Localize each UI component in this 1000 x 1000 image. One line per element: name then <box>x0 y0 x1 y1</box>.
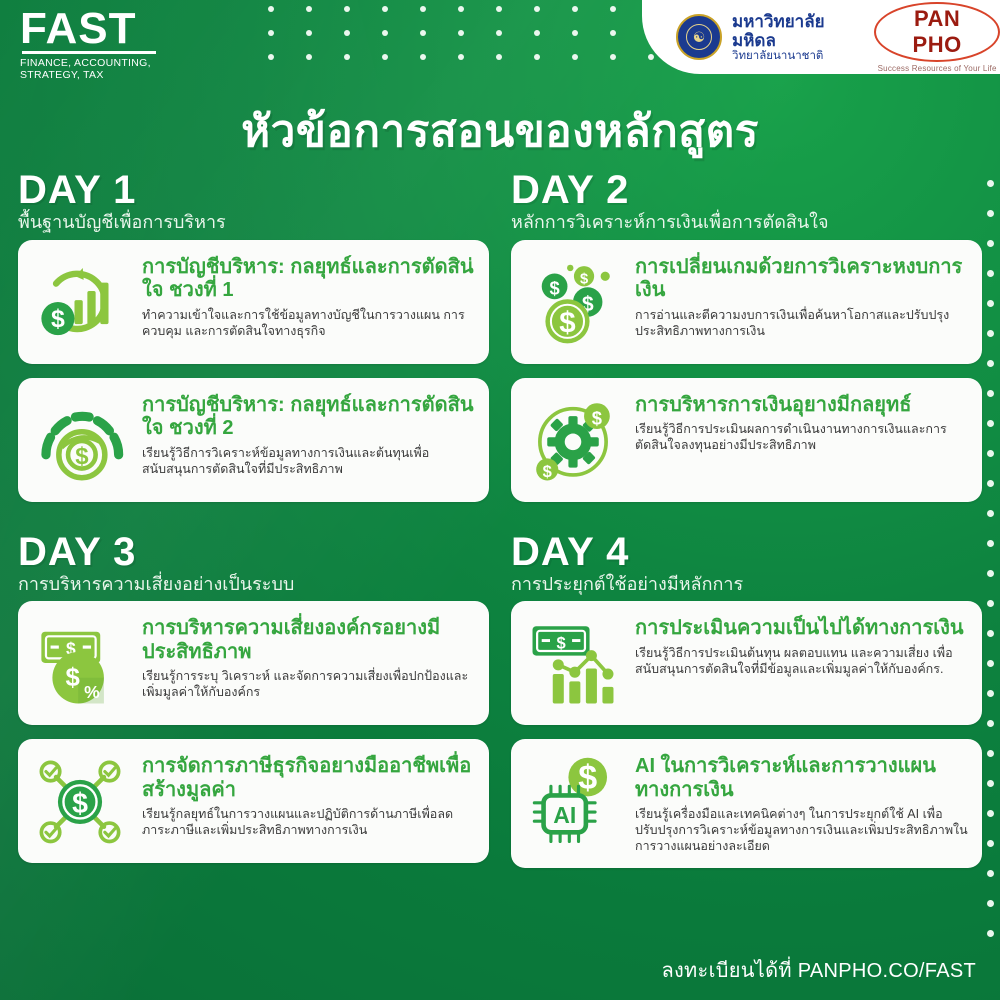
topic-card-title: การเปลี่ยนเกมด้วยการวิเคราะหงบการเงิน <box>635 256 968 303</box>
days-row: DAY 1 พื้นฐานบัญชีเพื่อการบริหาร $ การบั… <box>0 170 1000 516</box>
topic-card-description: เรียนรู้วิธีการประเมินผลการดำเนินงานทางก… <box>635 421 968 453</box>
topic-card[interactable]: $ การจัดการภาษีธุรกิจอยางมืออาชีพเพื่อสร… <box>18 739 489 863</box>
panpho-tagline: Success Resources of Your Life <box>874 64 1000 73</box>
topic-card-description: เรียนรู้กลยุทธ์ในการวางแผนและปฏิบัติการด… <box>142 806 475 838</box>
mahidol-seal-icon: ☯ <box>676 14 722 60</box>
topic-card[interactable]: $ การประเมินความเป็นไปได้ทางการเงิน เรีย… <box>511 601 982 725</box>
header-dot-pattern <box>268 6 688 68</box>
day-label: DAY 2 <box>511 170 982 210</box>
svg-text:$: $ <box>559 306 575 339</box>
ai-chip-dollar-icon: $AI <box>521 753 625 849</box>
svg-text:$: $ <box>592 407 602 428</box>
mahidol-text: มหาวิทยาลัยมหิดล วิทยาลัยนานาชาติ <box>732 12 856 63</box>
dollar-coins-stack-icon: $$$$ <box>521 254 625 350</box>
day-header-4: DAY 4 การประยุกต์ใช้อย่างมีหลักการ <box>511 532 982 596</box>
topic-card-body: การจัดการภาษีธุรกิจอยางมืออาชีพเพื่อสร้า… <box>142 753 475 838</box>
days-row: DAY 3 การบริหารความเสี่ยงอย่างเป็นระบบ $… <box>0 532 1000 883</box>
day-subtitle: พื้นฐานบัญชีเพื่อการบริหาร <box>18 212 489 234</box>
panpho-name: PAN PHO <box>874 2 1000 62</box>
topic-card-title: การบัญชีบริหาร: กลยุทธ์และการตัดสิน่ใจ ช… <box>142 256 475 303</box>
topic-card-title: AI ในการวิเคราะห์และการวางแผนทางการเงิน <box>635 755 968 802</box>
topic-card-description: ทำความเข้าใจและการใช้ข้อมูลทางบัญชีในการ… <box>142 307 475 339</box>
topic-card-title: การจัดการภาษีธุรกิจอยางมืออาชีพเพื่อสร้า… <box>142 755 475 802</box>
infographic-page: FAST FINANCE, ACCOUNTING, STRATEGY, TAX … <box>0 0 1000 1000</box>
day-header-3: DAY 3 การบริหารความเสี่ยงอย่างเป็นระบบ <box>18 532 489 596</box>
day-subtitle: การบริหารความเสี่ยงอย่างเป็นระบบ <box>18 574 489 596</box>
svg-text:$: $ <box>556 633 565 652</box>
gauge-dollar-coin-icon: $ <box>28 392 132 488</box>
topic-card[interactable]: $ การบัญชีบริหาร: กลยุทธ์และการตัดสินใจ … <box>18 378 489 502</box>
gear-orbit-dollar-icon: $$ <box>521 392 625 488</box>
topic-card-title: การบัญชีบริหาร: กลยุทธ์และการตัดสินใจ ชว… <box>142 394 475 441</box>
day-label: DAY 1 <box>18 170 489 210</box>
day-subtitle: หลักการวิเคราะห์การเงินเพื่อการตัดสินใจ <box>511 212 982 234</box>
day-column-3: DAY 3 การบริหารความเสี่ยงอย่างเป็นระบบ $… <box>18 532 489 883</box>
fast-logo-word: FAST <box>20 8 156 50</box>
svg-text:%: % <box>84 682 100 702</box>
svg-text:$: $ <box>580 271 588 287</box>
topic-card-description: เรียนรู้การระบุ วิเคราะห์ และจัดการความเ… <box>142 668 475 700</box>
topic-card-body: AI ในการวิเคราะห์และการวางแผนทางการเงิน … <box>635 753 968 854</box>
topic-card-body: การเปลี่ยนเกมด้วยการวิเคราะหงบการเงิน กา… <box>635 254 968 339</box>
topic-card-description: เรียนรู้วิธีการประเมินต้นทุน ผลตอบแทน แล… <box>635 645 968 677</box>
day-column-4: DAY 4 การประยุกต์ใช้อย่างมีหลักการ $ การ… <box>511 532 982 883</box>
svg-text:AI: AI <box>553 802 576 828</box>
topic-card[interactable]: $AI AI ในการวิเคราะห์และการวางแผนทางการเ… <box>511 739 982 868</box>
topic-card-title: การบริหารการเงินอุยางมีกลยุทธ์ <box>635 394 968 418</box>
svg-text:$: $ <box>543 461 552 480</box>
day-label: DAY 3 <box>18 532 489 572</box>
banknote-pie-percent-icon: $$% <box>28 615 132 711</box>
partner-logo-bar: ☯ มหาวิทยาลัยมหิดล วิทยาลัยนานาชาติ PAN … <box>642 0 1000 74</box>
fast-logo: FAST FINANCE, ACCOUNTING, STRATEGY, TAX <box>20 8 156 82</box>
day-header-1: DAY 1 พื้นฐานบัญชีเพื่อการบริหาร <box>18 170 489 234</box>
svg-text:$: $ <box>549 277 559 298</box>
topic-card-body: การบัญชีบริหาร: กลยุทธ์และการตัดสินใจ ชว… <box>142 392 475 477</box>
topic-card[interactable]: $$% การบริหารความเสี่ยงองค์กรอยางมีประสิ… <box>18 601 489 725</box>
day-header-2: DAY 2 หลักการวิเคราะห์การเงินเพื่อการตัด… <box>511 170 982 234</box>
svg-text:$: $ <box>578 759 597 797</box>
mahidol-seal-inner: ☯ <box>686 24 712 50</box>
topic-card-description: เรียนรู้วิธีการวิเคราะห์ข้อมูลทางการเงิน… <box>142 445 475 477</box>
page-title: หัวข้อการสอนของหลักสูตร <box>0 96 1000 166</box>
topic-card-body: การบริหารการเงินอุยางมีกลยุทธ์ เรียนรู้ว… <box>635 392 968 454</box>
svg-text:$: $ <box>72 788 88 820</box>
header: FAST FINANCE, ACCOUNTING, STRATEGY, TAX … <box>0 0 1000 78</box>
mahidol-name: มหาวิทยาลัยมหิดล <box>732 12 856 50</box>
mahidol-subname: วิทยาลัยนานาชาติ <box>732 50 856 63</box>
topic-card-title: การบริหารความเสี่ยงองค์กรอยางมีประสิทธิภ… <box>142 617 475 664</box>
topic-card[interactable]: $$ การบริหารการเงินอุยางมีกลยุทธ์ เรียนร… <box>511 378 982 502</box>
day-column-2: DAY 2 หลักการวิเคราะห์การเงินเพื่อการตัด… <box>511 170 982 516</box>
topic-card-body: การบัญชีบริหาร: กลยุทธ์และการตัดสิน่ใจ ช… <box>142 254 475 339</box>
day-subtitle: การประยุกต์ใช้อย่างมีหลักการ <box>511 574 982 596</box>
topic-card-description: การอ่านและตีความงบการเงินเพื่อค้นหาโอกาส… <box>635 307 968 339</box>
svg-text:$: $ <box>65 664 79 692</box>
day-column-1: DAY 1 พื้นฐานบัญชีเพื่อการบริหาร $ การบั… <box>18 170 489 516</box>
dollar-coin-network-check-icon: $ <box>28 753 132 849</box>
panpho-logo: PAN PHO Success Resources of Your Life <box>874 2 1000 73</box>
topic-card-body: การบริหารความเสี่ยงองค์กรอยางมีประสิทธิภ… <box>142 615 475 700</box>
topic-card-body: การประเมินความเป็นไปได้ทางการเงิน เรียนร… <box>635 615 968 677</box>
day-label: DAY 4 <box>511 532 982 572</box>
topic-card[interactable]: $ การบัญชีบริหาร: กลยุทธ์และการตัดสิน่ใจ… <box>18 240 489 364</box>
bar-chart-dollar-refresh-icon: $ <box>28 254 132 350</box>
fast-logo-sub-line2: STRATEGY, TAX <box>20 69 156 81</box>
topic-card[interactable]: $$$$ การเปลี่ยนเกมด้วยการวิเคราะหงบการเง… <box>511 240 982 364</box>
fast-logo-sub-line1: FINANCE, ACCOUNTING, <box>20 57 156 69</box>
footer-registration-text: ลงทะเบียนได้ที่ PANPHO.CO/FAST <box>661 954 976 986</box>
svg-text:$: $ <box>75 443 88 470</box>
svg-text:$: $ <box>51 305 65 332</box>
days-grid: DAY 1 พื้นฐานบัญชีเพื่อการบริหาร $ การบั… <box>0 170 1000 882</box>
banknote-chart-trend-icon: $ <box>521 615 625 711</box>
topic-card-title: การประเมินความเป็นไปได้ทางการเงิน <box>635 617 968 641</box>
topic-card-description: เรียนรู้เครื่องมือและเทคนิคต่างๆ ในการปร… <box>635 806 968 854</box>
